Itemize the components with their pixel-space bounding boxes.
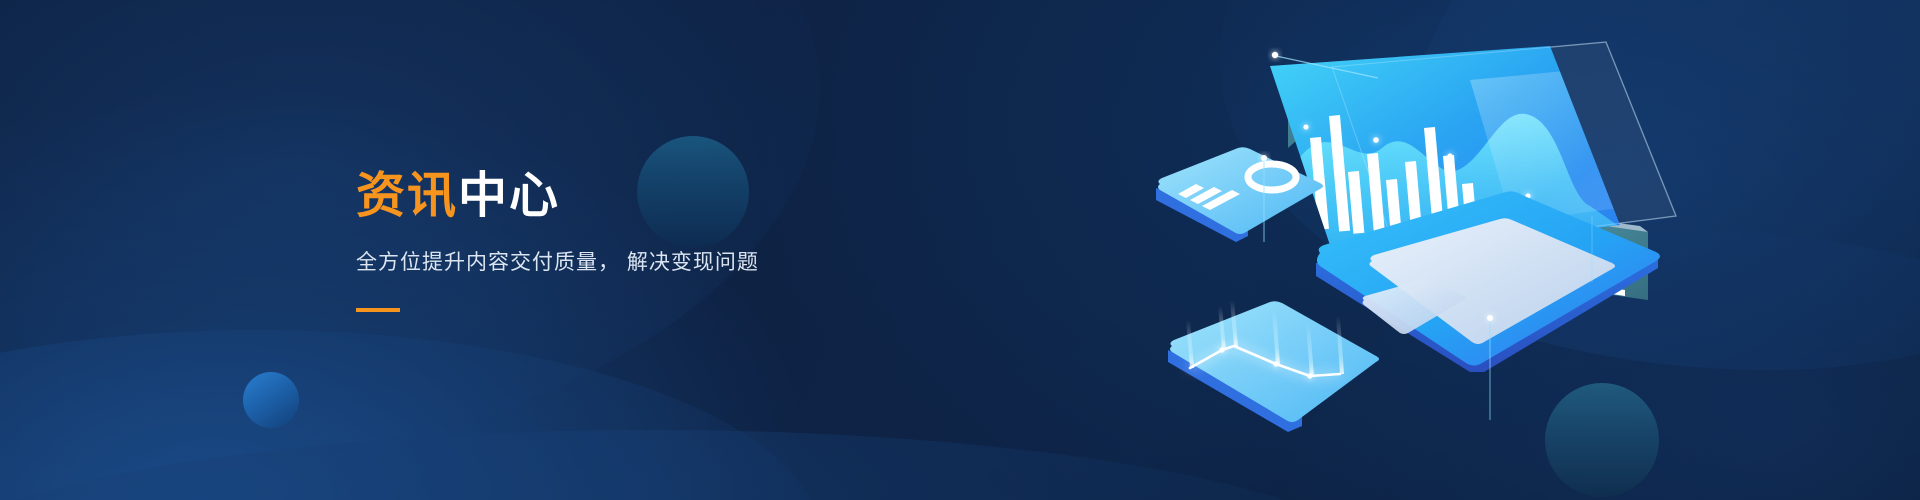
accent-divider <box>356 308 400 312</box>
banner-copy: 资讯中心 全方位提升内容交付质量， 解决变现问题 <box>356 168 916 312</box>
stat-card-left <box>1156 147 1323 242</box>
page-title-plain: 中心 <box>458 169 560 223</box>
isometric-illustration <box>1120 20 1820 490</box>
decor-circle-left-small <box>243 372 299 428</box>
page-title-accent: 资讯 <box>356 169 458 223</box>
page-title: 资讯中心 <box>356 168 916 225</box>
line-chart-card <box>1168 300 1379 432</box>
news-center-banner: 资讯中心 全方位提升内容交付质量， 解决变现问题 <box>0 0 1920 500</box>
page-subtitle: 全方位提升内容交付质量， 解决变现问题 <box>356 247 916 279</box>
